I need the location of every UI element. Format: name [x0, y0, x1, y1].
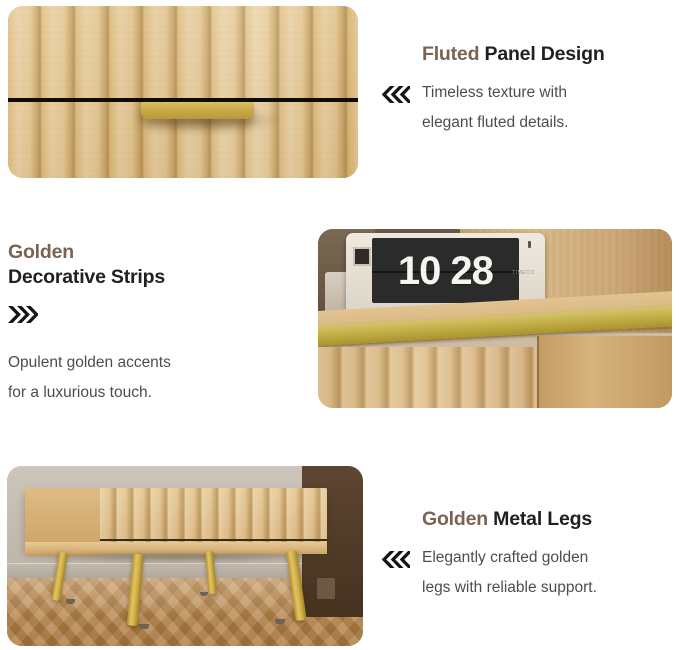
feature-heading-rest: Metal Legs	[488, 508, 592, 530]
leg-tip	[275, 619, 285, 624]
feature-body-line2: legs with reliable support.	[422, 573, 597, 603]
clock-hours: 10	[398, 249, 441, 293]
feature-body-line2: for a luxurious touch.	[8, 378, 171, 408]
cabinet-corner-seam	[537, 336, 539, 408]
feature-heading-rest: Decorative Strips	[8, 265, 171, 290]
fluted-ribs-texture	[318, 347, 537, 408]
clock-minutes: 28	[450, 249, 493, 293]
clock-switch-icon	[353, 247, 371, 266]
clock-brand-label: TIMECO	[512, 270, 534, 276]
feature-image-golden-metal-legs	[7, 466, 363, 646]
chevron-triple-left-icon	[380, 86, 410, 103]
cabinet-side-panel	[537, 336, 672, 408]
feature-heading-rest: Panel Design	[479, 43, 604, 65]
background-furniture-foot	[317, 578, 335, 600]
feature-body-line1: Elegantly crafted golden	[422, 543, 597, 573]
feature-heading: Fluted Panel Design	[422, 42, 605, 67]
drawer-gap-line	[100, 539, 328, 541]
feature-body-line1: Timeless texture with	[422, 78, 605, 108]
golden-bar-handle	[141, 102, 254, 119]
chevron-triple-right-icon	[8, 306, 38, 323]
clock-led-icon	[528, 241, 531, 248]
feature-text-golden-decorative-strips: Golden Decorative Strips Opulent golden …	[8, 240, 171, 408]
feature-heading-accent: Golden	[8, 241, 74, 263]
feature-heading-accent-line: Golden	[8, 240, 171, 265]
feature-body-line1: Opulent golden accents	[8, 348, 171, 378]
cabinet-drop-shadow	[25, 554, 328, 563]
cabinet-base-rail	[25, 542, 328, 555]
fluted-ribs-texture	[100, 488, 328, 542]
leg-tip	[66, 599, 75, 604]
feature-heading-accent: Golden	[422, 508, 488, 530]
infographic-stage: Fluted Panel Design Timeless texture wit…	[0, 0, 679, 650]
feature-image-fluted-panel-design	[8, 6, 358, 178]
feature-text-fluted-panel-design: Fluted Panel Design Timeless texture wit…	[380, 42, 605, 138]
feature-image-golden-decorative-strips: 1028 TIMECO	[318, 229, 672, 408]
clock-time: 1028	[398, 251, 493, 291]
feature-heading-accent: Fluted	[422, 43, 479, 65]
feature-text-golden-metal-legs: Golden Metal Legs Elegantly crafted gold…	[380, 507, 597, 603]
feature-heading: Golden Metal Legs	[422, 507, 597, 532]
chevron-triple-left-icon	[380, 551, 410, 568]
wood-grain-texture	[8, 6, 358, 178]
clock-display: 1028	[372, 238, 519, 303]
feature-body-line2: elegant fluted details.	[422, 108, 605, 138]
